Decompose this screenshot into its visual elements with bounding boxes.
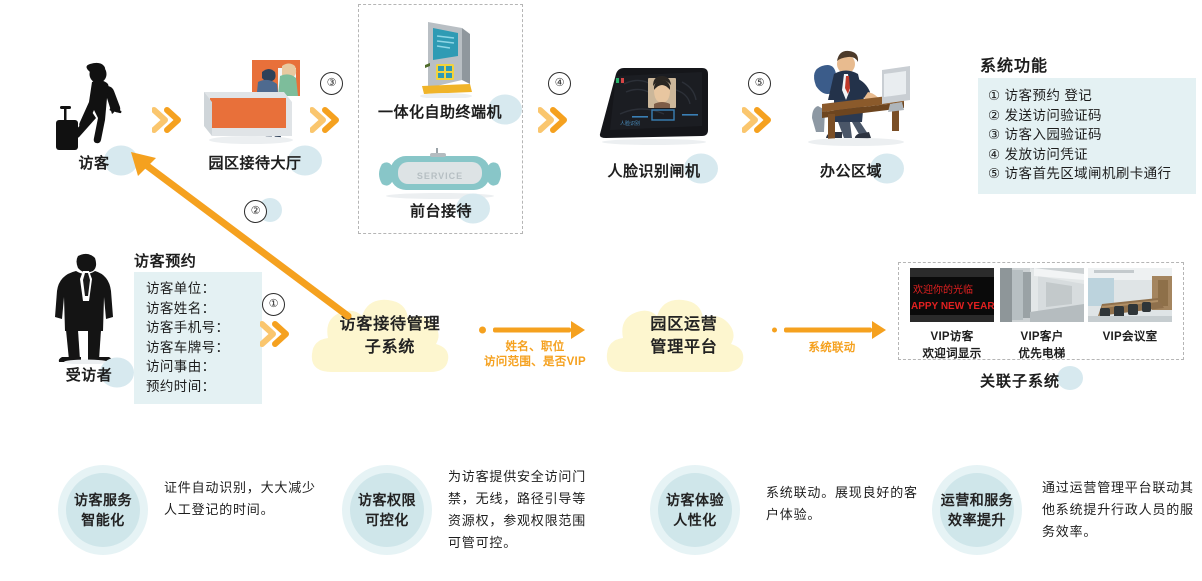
front-desk-icon: SERVICE xyxy=(372,148,508,200)
system-function-item-5: ⑤ 访客首先区域闸机刷卡通行 xyxy=(988,164,1184,184)
elevator-lobby-photo xyxy=(1000,268,1084,322)
related-system-item-2: VIP客户 优先电梯 xyxy=(1000,268,1084,363)
benefit-description-3: 系统联动。展现良好的客户体验。 xyxy=(766,482,918,526)
chevron-arrow-3 xyxy=(538,106,572,134)
businessman-silhouette-icon xyxy=(50,252,122,364)
caption-line2: 访问范围、是否VIP xyxy=(479,355,591,370)
system-function-item-2: ② 发送访问验证码 xyxy=(988,106,1184,126)
form-field-visit-reason: 访问事由： xyxy=(146,357,248,377)
arrow-dot xyxy=(772,328,777,333)
related-system-item-3: VIP会议室 xyxy=(1088,268,1172,346)
benefit-description-2: 为访客提供安全访问门禁，无线，路径引导等资源权，参观权限范围可管可控。 xyxy=(448,466,596,554)
system-function-item-1: ① 访客预约 登记 xyxy=(988,86,1184,106)
cloud-park-operation-platform: 园区运营 管理平台 xyxy=(605,290,763,382)
chevron-arrow-2 xyxy=(310,106,344,134)
related-system-item-1: 欢迎你的光临 APPY NEW YEAR VIP访客 欢迎词显示 xyxy=(910,268,994,363)
node-label-visitor: 访客 xyxy=(64,150,124,174)
benefit-1-title-line1: 访客服务 xyxy=(74,490,132,510)
arrow-caption-system-linkage: 系统联动 xyxy=(772,341,892,356)
chevron-arrow-1 xyxy=(152,106,186,134)
benefit-2-title-line2: 可控化 xyxy=(365,510,409,530)
arrow-bar xyxy=(493,328,571,333)
system-function-item-4: ④ 发放访问凭证 xyxy=(988,145,1184,165)
form-field-appointment-time: 预约时间： xyxy=(146,377,248,397)
caption-line1: 系统联动 xyxy=(772,341,892,356)
svg-text:人脸识别: 人脸识别 xyxy=(620,120,640,127)
benefit-bubble-3-inner: 访客体验 人性化 xyxy=(658,473,732,547)
benefit-bubble-1-inner: 访客服务 智能化 xyxy=(66,473,140,547)
arrow-subsystem-to-platform xyxy=(479,320,589,340)
caption-line1: VIP客户 xyxy=(1000,329,1084,346)
benefit-4-title-line1: 运营和服务 xyxy=(941,490,1014,510)
related-systems-title-blob xyxy=(1057,366,1083,390)
caption-line2: 欢迎词显示 xyxy=(910,346,994,363)
traveler-silhouette-icon xyxy=(48,60,144,152)
system-functions-list: ① 访客预约 登记 ② 发送访问验证码 ③ 访客入园验证码 ④ 发放访问凭证 ⑤… xyxy=(978,78,1196,194)
svg-text:SERVICE: SERVICE xyxy=(417,171,463,181)
caption-line2: 优先电梯 xyxy=(1000,346,1084,363)
related-system-caption-2: VIP客户 优先电梯 xyxy=(1000,329,1084,363)
office-area-icon xyxy=(794,50,912,148)
benefit-3-title-line2: 人性化 xyxy=(673,510,717,530)
svg-text:欢迎你的光临: 欢迎你的光临 xyxy=(913,283,973,296)
self-service-kiosk-icon xyxy=(412,18,478,98)
related-system-caption-3: VIP会议室 xyxy=(1088,329,1172,346)
face-recognition-gate-icon: 人脸识别 xyxy=(590,64,716,146)
benefit-bubble-4-inner: 运营和服务 效率提升 xyxy=(940,473,1014,547)
benefit-4-title-line2: 效率提升 xyxy=(948,510,1006,530)
svg-text:APPY NEW YEAR: APPY NEW YEAR xyxy=(911,301,994,312)
node-label-kiosk: 一体化自助终端机 xyxy=(372,99,508,123)
led-welcome-board-photo: 欢迎你的光临 APPY NEW YEAR xyxy=(910,268,994,322)
system-functions-title: 系统功能 xyxy=(980,52,1048,76)
system-function-item-3: ③ 访客入园验证码 xyxy=(988,125,1184,145)
caption-line1: VIP访客 xyxy=(910,329,994,346)
benefit-description-4: 通过运营管理平台联动其他系统提升行政人员的服务效率。 xyxy=(1042,477,1194,543)
arrow-head xyxy=(571,321,585,339)
return-flow-arrow xyxy=(120,140,360,325)
benefit-bubble-2: 访客权限 可控化 xyxy=(342,465,432,555)
benefit-3-title-line1: 访客体验 xyxy=(666,490,724,510)
step-number-1: ① xyxy=(262,293,285,316)
node-label-face-gate: 人脸识别闸机 xyxy=(604,158,704,182)
reception-hall-icon xyxy=(196,52,306,144)
benefit-description-1: 证件自动识别，大大减少人工登记的时间。 xyxy=(164,477,318,521)
related-system-caption-1: VIP访客 欢迎词显示 xyxy=(910,329,994,363)
benefit-bubble-3: 访客体验 人性化 xyxy=(650,465,740,555)
related-systems-title: 关联子系统 xyxy=(980,370,1060,391)
node-label-visitee: 受访者 xyxy=(58,362,120,386)
chevron-arrow-4 xyxy=(742,106,776,134)
node-label-front-desk: 前台接待 xyxy=(406,198,476,222)
caption-line1: 姓名、职位 xyxy=(479,340,591,355)
arrow-head xyxy=(872,321,886,339)
benefit-bubble-2-inner: 访客权限 可控化 xyxy=(350,473,424,547)
arrow-caption-subsystem-to-platform: 姓名、职位 访问范围、是否VIP xyxy=(479,340,591,370)
node-label-office-area: 办公区域 xyxy=(812,158,890,182)
arrow-platform-to-related-systems xyxy=(772,320,894,340)
meeting-room-photo xyxy=(1088,268,1172,322)
benefit-2-title-line1: 访客权限 xyxy=(358,490,416,510)
step-number-4: ④ xyxy=(548,72,571,95)
form-field-visitor-plate: 访客车牌号： xyxy=(146,338,248,358)
arrow-dot xyxy=(479,327,486,334)
benefit-bubble-1: 访客服务 智能化 xyxy=(58,465,148,555)
benefit-bubble-4: 运营和服务 效率提升 xyxy=(932,465,1022,555)
step-number-3: ③ xyxy=(320,72,343,95)
benefit-1-title-line2: 智能化 xyxy=(81,510,125,530)
arrow-bar xyxy=(784,328,872,333)
step-number-2: ② xyxy=(244,200,267,223)
step-number-5: ⑤ xyxy=(748,72,771,95)
caption-line1: VIP会议室 xyxy=(1088,329,1172,346)
